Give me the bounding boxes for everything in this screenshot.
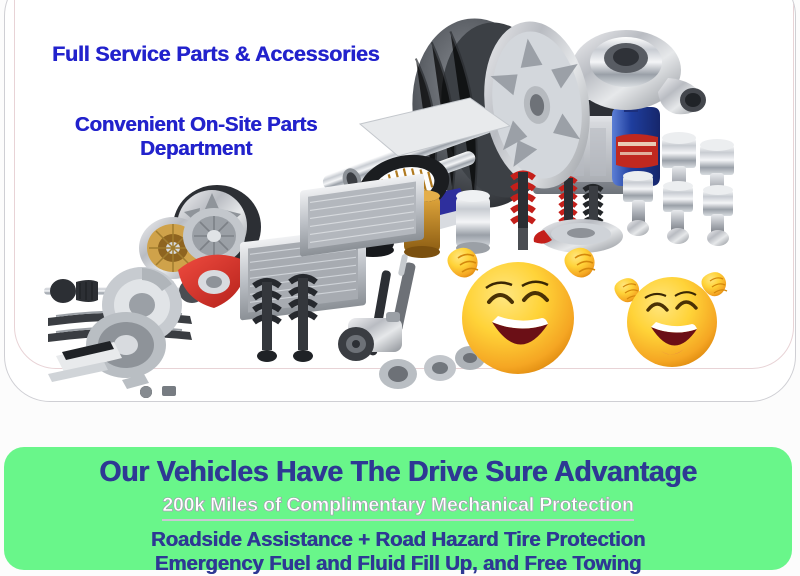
promo-banner: Our Vehicles Have The Drive Sure Advanta…: [4, 447, 792, 570]
promo-highlight-wrap: 200k Miles of Complimentary Mechanical P…: [4, 494, 792, 521]
bearings: [379, 346, 485, 389]
promo-benefit-fuel-towing: Emergency Fuel and Fluid Fill Up, and Fr…: [4, 554, 792, 575]
promo-headline: Our Vehicles Have The Drive Sure Advanta…: [4, 447, 792, 487]
ac-compressor: [338, 312, 402, 361]
laughing-emoji-small: [614, 272, 727, 367]
headline-on-site-parts: Convenient On-Site Parts Department: [48, 113, 344, 161]
headline-full-service: Full Service Parts & Accessories: [52, 42, 379, 67]
brake-rotor: [534, 219, 623, 253]
fuel-filter-silver: [456, 190, 490, 254]
promo-highlight-200k-miles: 200k Miles of Complimentary Mechanical P…: [162, 494, 633, 521]
promo-benefit-roadside: Roadside Assistance + Road Hazard Tire P…: [4, 530, 792, 551]
coil-spring-shock-red: [512, 172, 534, 250]
